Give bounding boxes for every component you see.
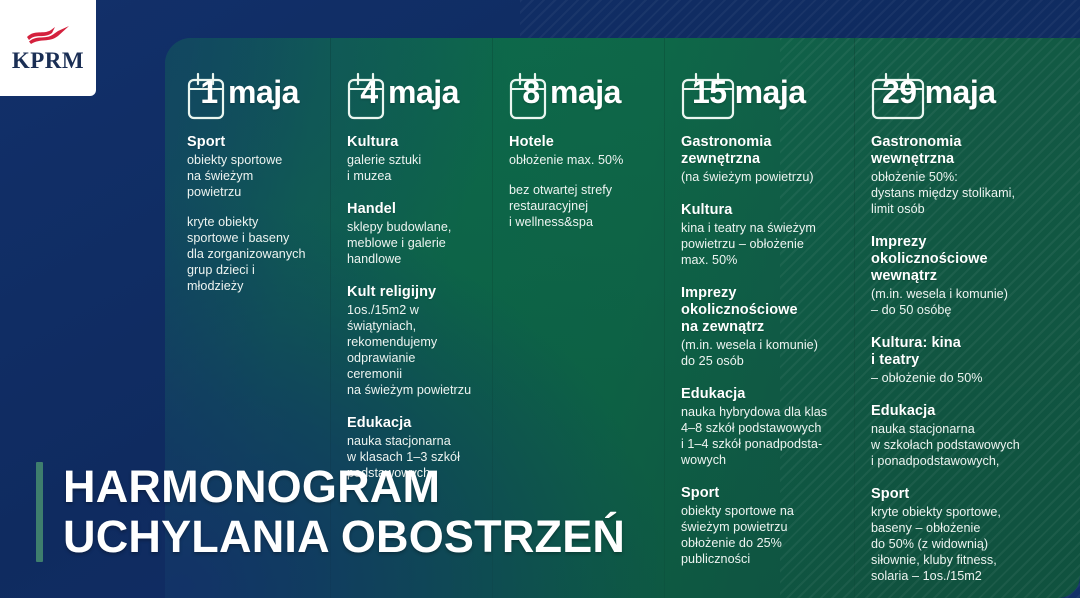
schedule-entry: Edukacjanauka stacjonarnaw szkołach pods… [871,403,1066,469]
polish-flag-emblem [25,24,71,46]
schedule-entry: Gastronomiawewnętrznaobłożenie 50%:dysta… [871,134,1066,217]
entry-line: odprawianie ceremonii [347,350,473,382]
entry-heading: Hotele [509,134,645,151]
schedule-entry: Hoteleobłożenie max. 50%bez otwartej str… [509,134,645,230]
entry-line: (na świeżym powietrzu) [681,169,835,185]
entry-line: – obłożenie do 50% [871,370,1066,386]
entry-heading: Edukacja [681,386,835,403]
entry-line: – do 50 osóbę [871,302,1066,318]
entry-heading: Gastronomiazewnętrzna [681,134,835,168]
entry-line: 4–8 szkół podstawowych [681,420,835,436]
date-header: 4maja [347,70,473,124]
entry-line: w szkołach podstawowych [871,437,1066,453]
entry-line: rekomendujemy [347,334,473,350]
entry-line: obiekty sportowe [187,152,311,168]
schedule-entry: Kultura: kinai teatry– obłożenie do 50% [871,335,1066,386]
schedule-entry: Sportkryte obiekty sportowe,baseny – obł… [871,486,1066,584]
date-month-word: maja [228,70,299,114]
date-month-word: maja [735,70,806,114]
entry-line: dystans między stolikami, [871,185,1066,201]
schedule-entry: Kult religijny1os./15m2 w świątyniach,re… [347,284,473,398]
entry-line: baseny – obłożenie [871,520,1066,536]
date-month-word: maja [550,70,621,114]
entry-heading: Kult religijny [347,284,473,301]
date-header: 1maja [187,70,311,124]
entry-heading: Sport [871,486,1066,503]
entry-heading: Imprezyokolicznościowewewnątrz [871,234,1066,285]
title-line-1: HARMONOGRAM [63,462,625,512]
date-number: 15 [687,70,731,114]
entry-line: siłownie, kluby fitness, [871,552,1066,568]
date-month-word: maja [388,70,459,114]
date-header: 15maja [681,70,835,124]
date-header: 8maja [509,70,645,124]
kprm-logo-text: KPRM [12,49,84,72]
schedule-entry: Edukacjanauka hybrydowa dla klas4–8 szkó… [681,386,835,468]
entry-line: (m.in. wesela i komunie) [681,337,835,353]
date-header: 29maja [871,70,1066,124]
entry-heading: Imprezyokolicznościowena zewnątrz [681,285,835,336]
title-accent-bar [36,462,43,562]
entry-line: handlowe [347,251,473,267]
date-number: 8 [515,70,546,114]
schedule-entry: Kulturakina i teatry na świeżympowietrzu… [681,202,835,268]
kprm-logo: KPRM [0,0,96,96]
entry-line: kina i teatry na świeżym [681,220,835,236]
schedule-entry: Gastronomiazewnętrzna(na świeżym powietr… [681,134,835,185]
schedule-entry: Handelsklepy budowlane,meblowe i galerie… [347,201,473,267]
entry-line: wowych [681,452,835,468]
date-label: 4maja [347,70,473,114]
entry-heading: Sport [681,485,835,502]
main-title: HARMONOGRAM UCHYLANIA OBOSTRZEŃ [36,462,625,562]
entry-line: publiczności [681,551,835,567]
entry-extra-line: grup dzieci i młodzieży [187,262,311,294]
date-label: 29maja [871,70,1066,114]
entry-extra-line: kryte obiekty [187,214,311,230]
date-month-word: maja [925,70,996,114]
entry-line: nauka stacjonarna [871,421,1066,437]
schedule-entry: Sportobiekty sportowena świeżym powietrz… [187,134,311,294]
entry-line: galerie sztuki [347,152,473,168]
date-label: 15maja [681,70,835,114]
entry-extra-line: dla zorganizowanych [187,246,311,262]
entry-extra-line: sportowe i baseny [187,230,311,246]
date-label: 8maja [509,70,645,114]
schedule-entry: Kulturagalerie sztukii muzea [347,134,473,184]
entry-line: i muzea [347,168,473,184]
entry-line: powietrzu – obłożenie [681,236,835,252]
entry-heading: Handel [347,201,473,218]
date-number: 29 [877,70,921,114]
entry-line: do 50% (z widownią) [871,536,1066,552]
date-label: 1maja [187,70,311,114]
entry-line: limit osób [871,201,1066,217]
col-29-maja: 29majaGastronomiawewnętrznaobłożenie 50%… [849,38,1080,598]
entry-line: do 25 osób [681,353,835,369]
entry-line: świeżym powietrzu [681,519,835,535]
date-number: 4 [353,70,384,114]
title-text: HARMONOGRAM UCHYLANIA OBOSTRZEŃ [63,462,625,562]
entry-line: na świeżym powietrzu [187,168,311,200]
infographic-root: 1majaSportobiekty sportowena świeżym pow… [0,0,1080,608]
entry-heading: Edukacja [347,415,473,432]
entry-heading: Kultura [347,134,473,151]
entry-line: obłożenie do 25% [681,535,835,551]
entry-line: nauka hybrydowa dla klas [681,404,835,420]
schedule-entry: Imprezyokolicznościowena zewnątrz(m.in. … [681,285,835,369]
entry-line: obłożenie max. 50% [509,152,645,168]
col-15-maja: 15majaGastronomiazewnętrzna(na świeżym p… [659,38,849,598]
entry-heading: Edukacja [871,403,1066,420]
entry-extra-line: restauracyjnej [509,198,645,214]
title-line-2: UCHYLANIA OBOSTRZEŃ [63,512,625,562]
date-number: 1 [193,70,224,114]
entry-heading: Kultura: kinai teatry [871,335,1066,369]
entry-line: obiekty sportowe na [681,503,835,519]
entry-extra-line: i wellness&spa [509,214,645,230]
entry-line: meblowe i galerie [347,235,473,251]
entry-line: sklepy budowlane, [347,219,473,235]
entry-line: na świeżym powietrzu [347,382,473,398]
entry-line: kryte obiekty sportowe, [871,504,1066,520]
entry-line: i 1–4 szkół ponadpodsta- [681,436,835,452]
bottom-white-strip [0,598,1080,608]
entry-line: nauka stacjonarna [347,433,473,449]
entry-line: solaria – 1os./15m2 [871,568,1066,584]
entry-heading: Kultura [681,202,835,219]
entry-line: max. 50% [681,252,835,268]
schedule-entry: Imprezyokolicznościowewewnątrz(m.in. wes… [871,234,1066,318]
entry-line: i ponadpodstawowych, [871,453,1066,469]
entry-line: obłożenie 50%: [871,169,1066,185]
entry-heading: Gastronomiawewnętrzna [871,134,1066,168]
entry-line: (m.in. wesela i komunie) [871,286,1066,302]
schedule-entry: Sportobiekty sportowe naświeżym powietrz… [681,485,835,567]
entry-extra-line: bez otwartej strefy [509,182,645,198]
entry-line: 1os./15m2 w świątyniach, [347,302,473,334]
entry-heading: Sport [187,134,311,151]
